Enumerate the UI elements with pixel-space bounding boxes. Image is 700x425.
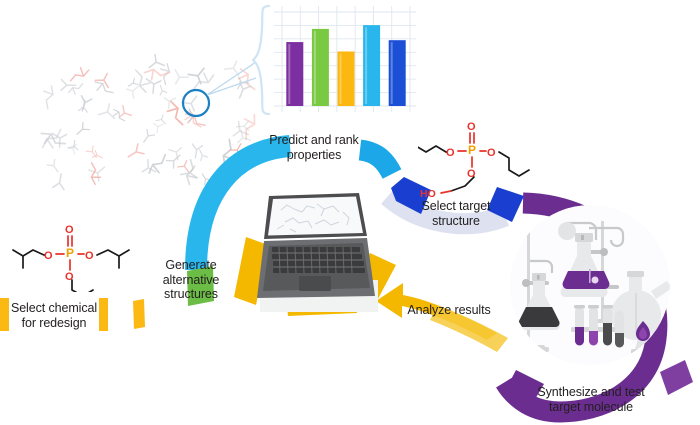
- molecule-glyph: [99, 102, 118, 118]
- molecule-glyph: [199, 172, 211, 185]
- molecule-glyph: [95, 70, 114, 87]
- molecule-glyph: [234, 82, 250, 100]
- property-bar-chart: [268, 2, 420, 118]
- molecule-glyph: [47, 159, 61, 174]
- lab-equipment-illustration: [505, 203, 675, 368]
- molecule-glyph: [182, 111, 205, 133]
- molecule-glyph: [92, 79, 113, 99]
- chart-bar-highlight: [365, 27, 367, 104]
- chemical-structure-target: P O O O O HO: [418, 108, 583, 200]
- molecule-glyph: [77, 96, 92, 113]
- atom-label-o-left: O: [446, 147, 455, 159]
- molecule-glyph: [91, 163, 101, 185]
- molecule-glyph: [67, 84, 85, 97]
- molecule-glyph: [229, 122, 249, 142]
- molecule-glyph: [236, 121, 249, 131]
- molecule-glyph: [189, 70, 215, 90]
- molecule-glyph: [38, 129, 65, 152]
- bar-chart-svg: [268, 2, 420, 118]
- molecule-glyph: [190, 144, 202, 159]
- molecule-glyph: [188, 68, 209, 86]
- molecule-glyph: [140, 130, 155, 145]
- molecule-glyph: [225, 58, 244, 75]
- molecule-glyph: [180, 166, 197, 180]
- molecule-glyph: [39, 84, 56, 108]
- molecule-glyph: [110, 108, 124, 125]
- step-label-predict-and-rank-properties: Predict and rank properties: [258, 133, 370, 162]
- molecule-glyph: [126, 78, 138, 89]
- molecule-glyph: [89, 167, 107, 182]
- chart-bar-highlight: [340, 53, 342, 104]
- molecule-glyph: [74, 123, 89, 138]
- molecule-glyph: [146, 155, 171, 178]
- molecule-glyph: [185, 160, 201, 186]
- molecule-glyph: [157, 84, 167, 95]
- molecule-glyph: [67, 65, 90, 80]
- molecule-glyph: [92, 151, 103, 161]
- atom-label-o-left: O: [44, 250, 53, 262]
- molecule-glyph: [166, 151, 183, 168]
- molecule-glyph: [196, 148, 207, 160]
- laptop-illustration: [255, 184, 385, 314]
- molecule-glyph: [220, 140, 239, 168]
- molecule-highlight-circle: [183, 90, 209, 116]
- molecule-glyph: [78, 99, 89, 112]
- atom-label-o-right: O: [487, 147, 496, 159]
- molecule-glyph: [178, 158, 192, 171]
- chart-bar-highlight: [314, 31, 316, 104]
- molecule-glyph: [233, 130, 250, 147]
- molecule-glyph: [182, 96, 202, 114]
- molecule-glyph: [115, 106, 131, 122]
- molecule-glyph: [233, 74, 249, 88]
- molecule-glyph: [183, 109, 200, 125]
- atom-label-p: P: [468, 143, 476, 157]
- molecule-glyph: [165, 100, 182, 127]
- molecule-glyph: [86, 146, 100, 160]
- step-label-generate-alternative-structures: Generate alternative structures: [145, 258, 237, 302]
- chemical-structure-starting: P O O O O: [2, 212, 142, 304]
- molecule-glyph: [169, 143, 186, 160]
- molecule-glyph: [40, 130, 67, 153]
- chart-bracket-icon: [252, 4, 270, 116]
- molecule-glyph: [61, 79, 76, 90]
- molecule-glyph: [138, 160, 155, 178]
- molecule-glyph: [52, 128, 70, 147]
- atom-label-p: P: [66, 246, 74, 260]
- molecule-glyph: [124, 83, 138, 99]
- step-label-analyze-results: Analyze results: [400, 303, 498, 318]
- atom-label-o-bottom: O: [467, 168, 476, 180]
- molecule-glyph: [67, 143, 77, 154]
- molecule-glyph: [136, 68, 152, 93]
- molecule-glyph: [143, 68, 169, 83]
- molecule-glyph: [147, 53, 164, 67]
- molecule-glyph: [147, 74, 165, 93]
- atom-label-o-top: O: [65, 224, 74, 236]
- workflow-figure: P O O O O P O O O O HO: [0, 0, 700, 425]
- step-label-synthesize-and-test-target-molecule: Synthesize and test target molecule: [523, 385, 659, 414]
- molecule-glyph: [230, 144, 246, 159]
- step-label-select-target-structure: Select target structure: [404, 199, 508, 228]
- molecule-glyph: [169, 70, 188, 88]
- molecule-glyph: [53, 173, 67, 190]
- molecule-glyph: [150, 119, 163, 132]
- atom-label-o-top: O: [467, 121, 476, 133]
- molecule-glyph: [125, 144, 144, 162]
- molecule-glyph: [157, 62, 171, 84]
- step-label-select-chemical: Select chemical for redesign: [4, 301, 104, 330]
- chart-bar-highlight: [288, 44, 290, 104]
- molecule-glyph: [161, 93, 176, 109]
- molecule-glyph: [68, 140, 81, 153]
- molecule-glyph: [156, 113, 168, 123]
- chart-bar-highlight: [391, 42, 393, 104]
- molecule-glyph: [181, 108, 201, 131]
- atom-label-o-right: O: [85, 250, 94, 262]
